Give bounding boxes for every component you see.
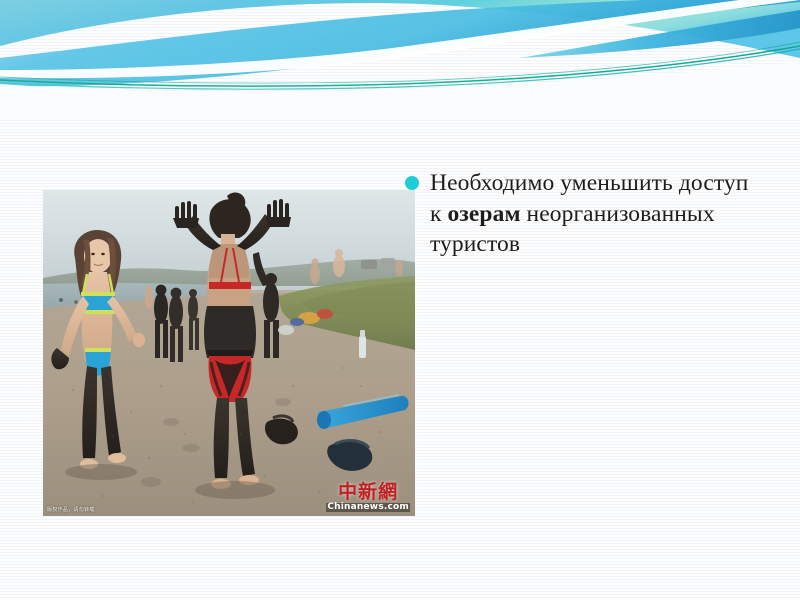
- photo-artwork: [43, 190, 415, 516]
- slide-canvas: 版权作品，请勿转载 中新網 Chinanews.com Необходимо у…: [0, 0, 800, 600]
- watermark-chinese-text: 中新網: [326, 483, 410, 502]
- water-bottle: [359, 330, 366, 358]
- bullet-item: Необходимо уменьшить доступ к озерам нео…: [405, 168, 755, 260]
- content-photo: 版权作品，请勿转载 中新網 Chinanews.com: [43, 190, 415, 516]
- bullet-text: Необходимо уменьшить доступ к озерам нео…: [430, 168, 755, 260]
- body-text-block: Необходимо уменьшить доступ к озерам нео…: [405, 168, 755, 260]
- bullet-segment-bold: озерам: [448, 201, 521, 227]
- photo-watermark: 中新網 Chinanews.com: [326, 483, 410, 512]
- bullet-marker-icon: [405, 176, 419, 190]
- header-wave-decoration: [0, 0, 800, 120]
- photo-credit-text: 版权作品，请勿转载: [47, 506, 95, 513]
- watermark-url-text: Chinanews.com: [326, 503, 410, 512]
